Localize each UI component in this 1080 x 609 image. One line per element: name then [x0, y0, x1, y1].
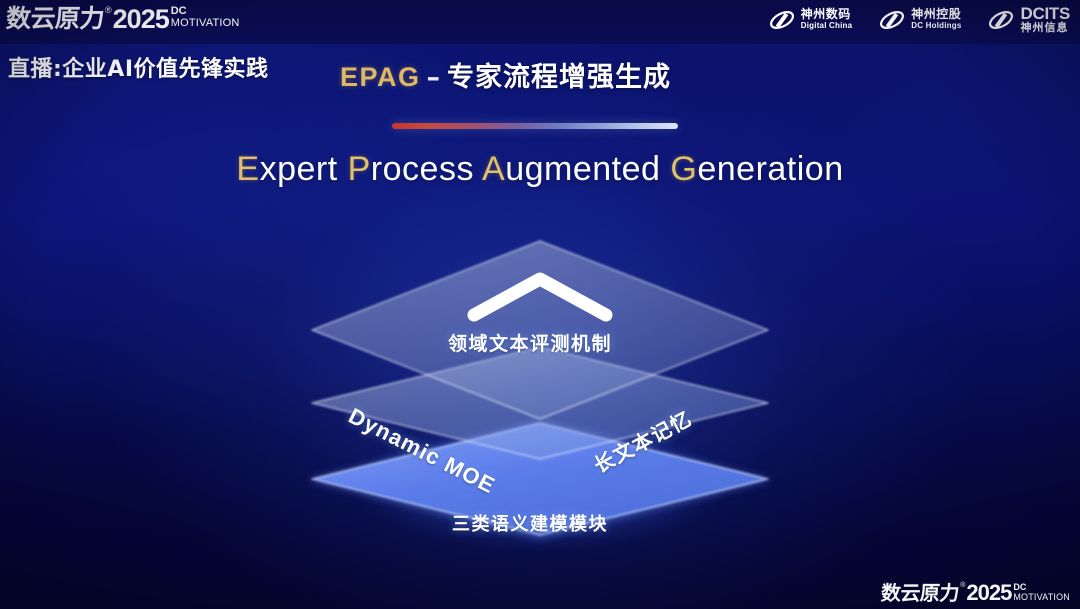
brand-registered-mark: ®	[105, 4, 112, 16]
watermark-name-cn: 数云原力	[880, 581, 960, 605]
partner-logo-digital-china: 神州数码 Digital China	[768, 7, 853, 33]
diagram-layer-middle	[312, 347, 768, 459]
expansion-cap-2: A	[482, 150, 505, 188]
watermark-year: 2025	[966, 581, 1011, 605]
layered-architecture-diagram: 领域文本评测机制 Dynamic MOE 长文本记忆 三类语义建模模块	[270, 225, 810, 565]
diagram-layer-top	[312, 241, 768, 419]
diagram-shapes	[270, 225, 810, 565]
expansion-cap-1: P	[348, 150, 371, 188]
partner-name-cn: 神州信息	[1020, 22, 1070, 34]
watermark-dc-motivation: DC MOTIVATION	[1013, 583, 1070, 602]
watermark-dc-line1: DC	[1013, 583, 1070, 592]
brand-dc-line1: DC	[171, 6, 240, 17]
layer-label-bottom: 三类语义建模模块	[452, 510, 608, 536]
layer-label-middle-right: 长文本记忆	[588, 403, 697, 479]
swoosh-icon	[878, 7, 906, 33]
expansion-rest-1: rocess	[371, 150, 474, 188]
livestream-label: 直播:企业AI价值先锋实践	[8, 51, 269, 83]
acronym-expansion: Expert Process Augmented Generation	[0, 150, 1080, 189]
watermark-registered-mark: ®	[960, 581, 965, 591]
watermark-dc-line2: MOTIVATION	[1013, 592, 1070, 602]
page-title: EPAG–专家流程增强生成	[340, 55, 671, 94]
brand-dc-line2: MOTIVATION	[171, 17, 240, 29]
partner-name-en: DC Holdings	[911, 21, 961, 31]
swoosh-icon	[987, 7, 1015, 33]
diagram-layer-bottom	[308, 421, 772, 539]
expansion-cap-0: E	[236, 150, 259, 188]
partner-name-cn: 神州数码	[801, 8, 853, 21]
gradient-divider	[392, 123, 678, 129]
expansion-rest-2: ugmented	[505, 150, 660, 188]
partner-name-en: DCITS	[1020, 5, 1070, 22]
brand-dc-motivation: DC MOTIVATION	[171, 6, 240, 29]
diagram-glow	[300, 395, 780, 575]
layer-label-middle-left: Dynamic MOE	[344, 403, 499, 499]
title-acronym: EPAG	[340, 62, 421, 92]
partner-name-cn: 神州控股	[911, 8, 961, 21]
partner-name-en: Digital China	[801, 21, 853, 31]
footer-watermark-logo: 数云原力 ® 2025 DC MOTIVATION	[881, 581, 1070, 605]
brand-year: 2025	[113, 4, 169, 34]
slide-canvas: 数云原力 ® 2025 DC MOTIVATION 直播:企业AI价值先锋实践 …	[0, 0, 1080, 609]
expansion-rest-3: eneration	[697, 150, 843, 188]
partner-logo-group: 神州数码 Digital China 神州控股 DC Holdings DCIT…	[768, 5, 1070, 34]
brand-name-cn: 数云原力	[5, 4, 105, 34]
partner-logo-dcits: DCITS 神州信息	[987, 5, 1070, 34]
expansion-rest-0: xpert	[260, 150, 338, 188]
expansion-cap-3: G	[670, 150, 697, 188]
swoosh-icon	[768, 7, 796, 33]
layer-label-top: 领域文本评测机制	[448, 329, 612, 356]
brand-logo: 数云原力 ® 2025 DC MOTIVATION	[6, 4, 240, 38]
chevron-up-icon	[460, 263, 620, 327]
title-dash: –	[421, 62, 448, 93]
title-chinese: 专家流程增强生成	[447, 62, 671, 93]
partner-logo-dc-holdings: 神州控股 DC Holdings	[878, 7, 961, 33]
